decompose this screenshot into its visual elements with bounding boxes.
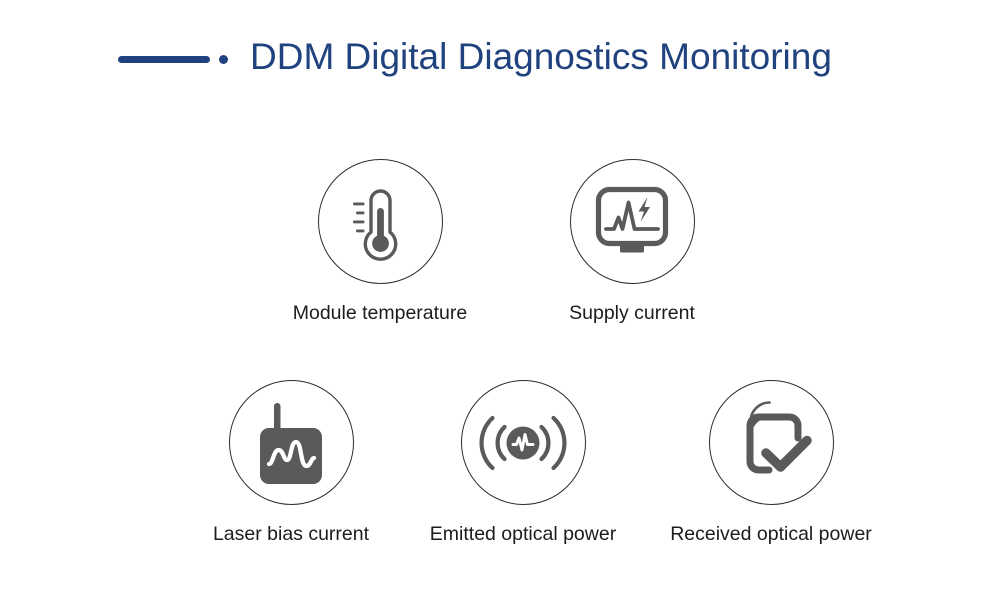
icon-circle-laser-bias-current [229,380,354,505]
icon-circle-emitted-optical-power [461,380,586,505]
feature-item-received-optical-power[interactable]: Received optical power [651,380,891,546]
feature-label-received-optical-power: Received optical power [651,523,891,546]
icon-circle-received-optical-power [709,380,834,505]
feature-item-module-temperature[interactable]: Module temperature [260,159,500,325]
feature-item-laser-bias-current[interactable]: Laser bias current [171,380,411,546]
signal-received-check-icon [728,400,814,486]
diagnostics-feature-grid: Module temperature Supply current [0,0,1000,600]
antenna-device-waveform-icon [253,400,329,486]
icon-circle-module-temperature [318,159,443,284]
feature-label-supply-current: Supply current [512,302,752,325]
thermometer-icon [343,181,417,263]
feature-label-emitted-optical-power: Emitted optical power [403,523,643,546]
feature-item-supply-current[interactable]: Supply current [512,159,752,325]
icon-circle-supply-current [570,159,695,284]
signal-emitting-waves-icon [477,403,569,483]
feature-label-laser-bias-current: Laser bias current [171,523,411,546]
monitor-waveform-bolt-icon [592,184,672,260]
feature-label-module-temperature: Module temperature [260,302,500,325]
feature-item-emitted-optical-power[interactable]: Emitted optical power [403,380,643,546]
